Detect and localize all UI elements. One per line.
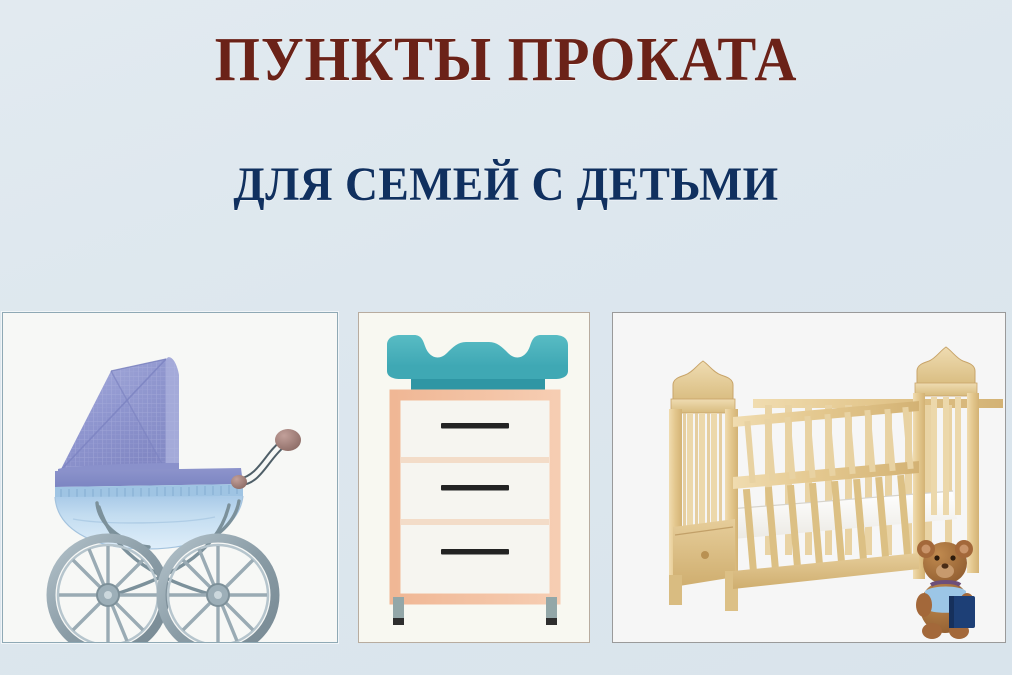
table-foot-left bbox=[393, 618, 404, 625]
changing-table-icon bbox=[359, 313, 590, 643]
pram-handle-joint bbox=[231, 475, 247, 489]
panel-crib bbox=[612, 312, 1006, 643]
drawer-handle-2 bbox=[441, 485, 509, 491]
pram-canopy bbox=[58, 357, 179, 479]
pram-icon bbox=[3, 313, 338, 643]
crib-icon bbox=[613, 313, 1006, 643]
page-title-container: ПУНКТЫ ПРОКАТА bbox=[0, 28, 1012, 93]
pram-wheel-left bbox=[51, 538, 165, 643]
crib-drawer-knob bbox=[701, 551, 709, 559]
panel-changing-table bbox=[358, 312, 590, 643]
drawer-divider-1 bbox=[401, 457, 549, 463]
pram-handle-grip bbox=[275, 429, 301, 451]
bear-arm-left bbox=[916, 593, 932, 617]
drawer-handle-3 bbox=[441, 549, 509, 555]
pram-wheel-right bbox=[161, 538, 275, 643]
poster-root: ПУНКТЫ ПРОКАТА ДЛЯ СЕМЕЙ С ДЕТЬМИ bbox=[0, 0, 1012, 675]
page-subtitle-container: ДЛЯ СЕМЕЙ С ДЕТЬМИ bbox=[0, 160, 1012, 210]
drawer-handle-1 bbox=[441, 423, 509, 429]
changing-table-illustration bbox=[359, 313, 589, 642]
drawer-divider-2 bbox=[401, 519, 549, 525]
stroller-illustration bbox=[3, 313, 337, 642]
page-title: ПУНКТЫ ПРОКАТА bbox=[30, 28, 981, 93]
page-subtitle: ДЛЯ СЕМЕЙ С ДЕТЬМИ bbox=[25, 160, 986, 210]
crib-headboard-left bbox=[669, 361, 738, 611]
teddy-bear-icon bbox=[916, 540, 975, 639]
bear-foot-left bbox=[922, 623, 942, 639]
table-foot-right bbox=[546, 618, 557, 625]
panel-stroller bbox=[2, 312, 338, 643]
crib-illustration bbox=[613, 313, 1005, 642]
